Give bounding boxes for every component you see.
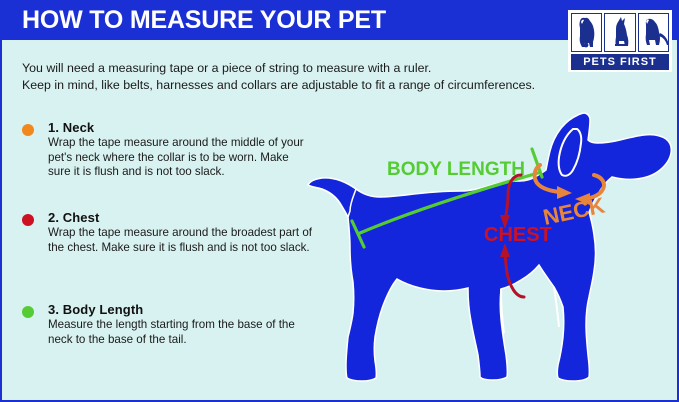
- annotation-label-chest: CHEST: [484, 224, 552, 246]
- logo-dog-frame-2: [604, 13, 635, 52]
- step-bullet-body-length: [22, 306, 34, 318]
- intro-line-1: You will need a measuring tape or a piec…: [22, 60, 582, 77]
- dog-howling-icon: [605, 14, 635, 51]
- step-bullet-chest: [22, 214, 34, 226]
- logo-wordmark: PETS FIRST: [583, 57, 657, 68]
- step-title-neck: 1. Neck: [48, 120, 312, 136]
- logo-wordmark-bar: PETS FIRST: [571, 54, 669, 70]
- measurement-steps-list: 1. Neck Wrap the tape measure around the…: [22, 120, 312, 361]
- step-body-neck: Wrap the tape measure around the middle …: [48, 136, 313, 180]
- step-bullet-neck: [22, 124, 34, 136]
- step-item-body-length: 3. Body Length Measure the length starti…: [22, 302, 312, 347]
- step-item-neck: 1. Neck Wrap the tape measure around the…: [22, 120, 312, 196]
- step-title-chest: 2. Chest: [48, 210, 312, 226]
- step-title-body-length: 3. Body Length: [48, 302, 312, 318]
- step-item-chest: 2. Chest Wrap the tape measure around th…: [22, 210, 312, 288]
- intro-text: You will need a measuring tape or a piec…: [22, 60, 582, 94]
- dog-sitting-icon: [572, 14, 602, 51]
- dog-standing-icon: [639, 14, 669, 51]
- brand-logo: PETS FIRST: [568, 10, 672, 72]
- annotation-label-body-length: BODY LENGTH: [387, 159, 525, 180]
- logo-dog-frame-3: [638, 13, 669, 52]
- infographic-page: HOW TO MEASURE YOUR PET: [0, 0, 679, 402]
- step-body-body-length: Measure the length starting from the bas…: [48, 318, 313, 347]
- step-body-chest: Wrap the tape measure around the broades…: [48, 226, 313, 255]
- page-title: HOW TO MEASURE YOUR PET: [22, 6, 386, 35]
- logo-dog-frame-1: [571, 13, 602, 52]
- intro-line-2: Keep in mind, like belts, harnesses and …: [22, 77, 582, 94]
- dog-illustration: BODY LENGTH NECK CHEST: [302, 107, 679, 402]
- logo-dog-frames: [571, 13, 669, 52]
